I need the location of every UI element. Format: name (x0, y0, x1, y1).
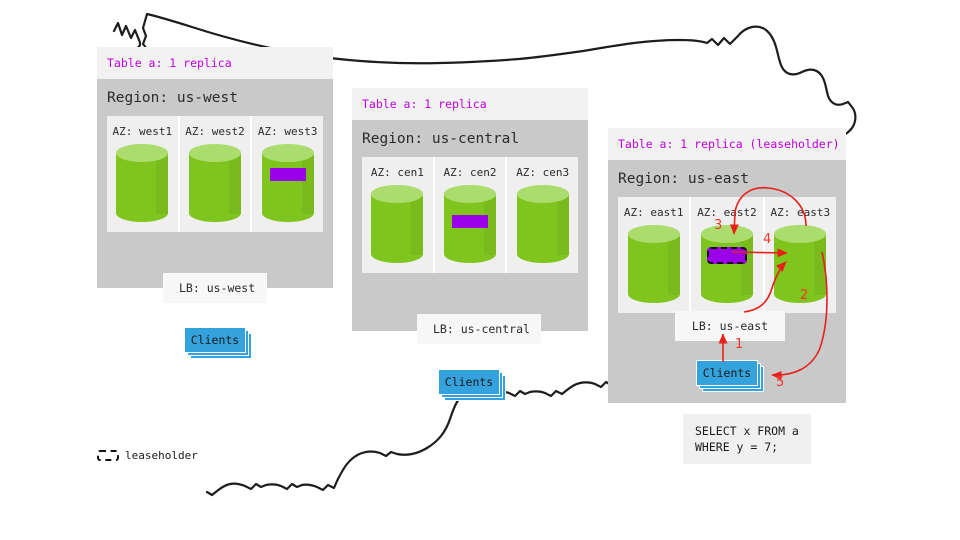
region-body-us-west: Region: us-west AZ: west1 AZ: west2 (97, 79, 333, 288)
az-west1-label: AZ: west1 (107, 125, 178, 138)
cylinder-shade (156, 156, 168, 214)
legend-label: leaseholder (125, 449, 198, 462)
cylinder-shade (741, 237, 753, 295)
az-cen3-label: AZ: cen3 (507, 166, 578, 179)
replica-cylinder-cen2[interactable] (444, 185, 496, 263)
az-cen2-label: AZ: cen2 (435, 166, 506, 179)
clients-us-east[interactable]: Clients (696, 360, 758, 386)
az-west2-label: AZ: west2 (180, 125, 251, 138)
cylinder-top (517, 185, 569, 203)
legend-leaseholder: leaseholder (97, 449, 198, 462)
az-west1[interactable]: AZ: west1 (107, 116, 180, 232)
arrow-label-1: 1 (735, 337, 743, 352)
az-east1[interactable]: AZ: east1 (618, 197, 691, 313)
cylinder-shade (411, 197, 423, 255)
clients-layer-front[interactable]: Clients (438, 369, 500, 395)
region-header-us-west: Table a: 1 replica (97, 47, 333, 79)
replica-cylinder-cen1[interactable] (371, 185, 423, 263)
az-west3-label: AZ: west3 (252, 125, 323, 138)
clients-us-central-label: Clients (445, 375, 493, 389)
az-cen3[interactable]: AZ: cen3 (507, 157, 578, 273)
az-row-us-west: AZ: west1 AZ: west2 (107, 116, 323, 232)
region-title-us-central: Region: us-central (352, 120, 588, 157)
region-header-us-east: Table a: 1 replica (leaseholder) (608, 128, 846, 160)
load-balancer-us-west[interactable]: LB: us-west (163, 273, 267, 303)
az-east3-label: AZ: east3 (765, 206, 836, 219)
replica-cylinder-west3[interactable] (262, 144, 314, 222)
cylinder-top (371, 185, 423, 203)
replica-cylinder-east1[interactable] (628, 225, 680, 303)
cylinder-shade (668, 237, 680, 295)
replica-cylinder-east2[interactable] (701, 225, 753, 303)
cylinder-top (628, 225, 680, 243)
replica-cylinder-cen3[interactable] (517, 185, 569, 263)
arrow-label-2: 2 (800, 288, 808, 303)
az-cen1[interactable]: AZ: cen1 (362, 157, 435, 273)
dashed-rect-icon (97, 450, 119, 461)
replica-cylinder-west1[interactable] (116, 144, 168, 222)
cylinder-shade (557, 197, 569, 255)
clients-layer-front[interactable]: Clients (184, 327, 246, 353)
az-east2[interactable]: AZ: east2 (691, 197, 764, 313)
region-panel-us-central: Table a: 1 replica Region: us-central AZ… (352, 88, 588, 331)
region-panel-us-east: Table a: 1 replica (leaseholder) Region:… (608, 128, 846, 403)
cylinder-top (774, 225, 826, 243)
sql-query-box: SELECT x FROM a WHERE y = 7; (683, 414, 811, 464)
cylinder-shade (229, 156, 241, 214)
clients-us-west[interactable]: Clients (184, 327, 246, 353)
arrow-label-5: 5 (776, 375, 784, 390)
clients-us-central[interactable]: Clients (438, 369, 500, 395)
clients-us-east-label: Clients (703, 366, 751, 380)
region-header-us-central: Table a: 1 replica (352, 88, 588, 120)
replica-band-west3 (270, 168, 306, 181)
diagram-canvas: Table a: 1 replica Region: us-west AZ: w… (0, 0, 960, 540)
az-east1-label: AZ: east1 (618, 206, 689, 219)
cylinder-top (262, 144, 314, 162)
leaseholder-band-east2 (707, 247, 747, 264)
cylinder-top (444, 185, 496, 203)
region-title-us-west: Region: us-west (97, 79, 333, 116)
az-east2-label: AZ: east2 (691, 206, 762, 219)
arrow-label-4: 4 (763, 232, 771, 247)
az-row-us-central: AZ: cen1 AZ: cen2 (362, 157, 578, 273)
az-west3[interactable]: AZ: west3 (252, 116, 323, 232)
cylinder-shade (814, 237, 826, 295)
clients-layer-front[interactable]: Clients (696, 360, 758, 386)
cylinder-top (701, 225, 753, 243)
az-cen2[interactable]: AZ: cen2 (435, 157, 508, 273)
load-balancer-us-east[interactable]: LB: us-east (675, 311, 785, 341)
region-panel-us-west: Table a: 1 replica Region: us-west AZ: w… (97, 47, 333, 288)
region-title-us-east: Region: us-east (608, 160, 846, 197)
az-west2[interactable]: AZ: west2 (180, 116, 253, 232)
region-body-us-central: Region: us-central AZ: cen1 AZ: cen2 (352, 120, 588, 331)
cylinder-top (189, 144, 241, 162)
arrow-label-3: 3 (714, 218, 722, 233)
az-cen1-label: AZ: cen1 (362, 166, 433, 179)
replica-band-cen2 (452, 215, 488, 228)
clients-us-west-label: Clients (191, 333, 239, 347)
cylinder-top (116, 144, 168, 162)
replica-cylinder-west2[interactable] (189, 144, 241, 222)
load-balancer-us-central[interactable]: LB: us-central (417, 314, 541, 344)
cylinder-shade (302, 156, 314, 214)
